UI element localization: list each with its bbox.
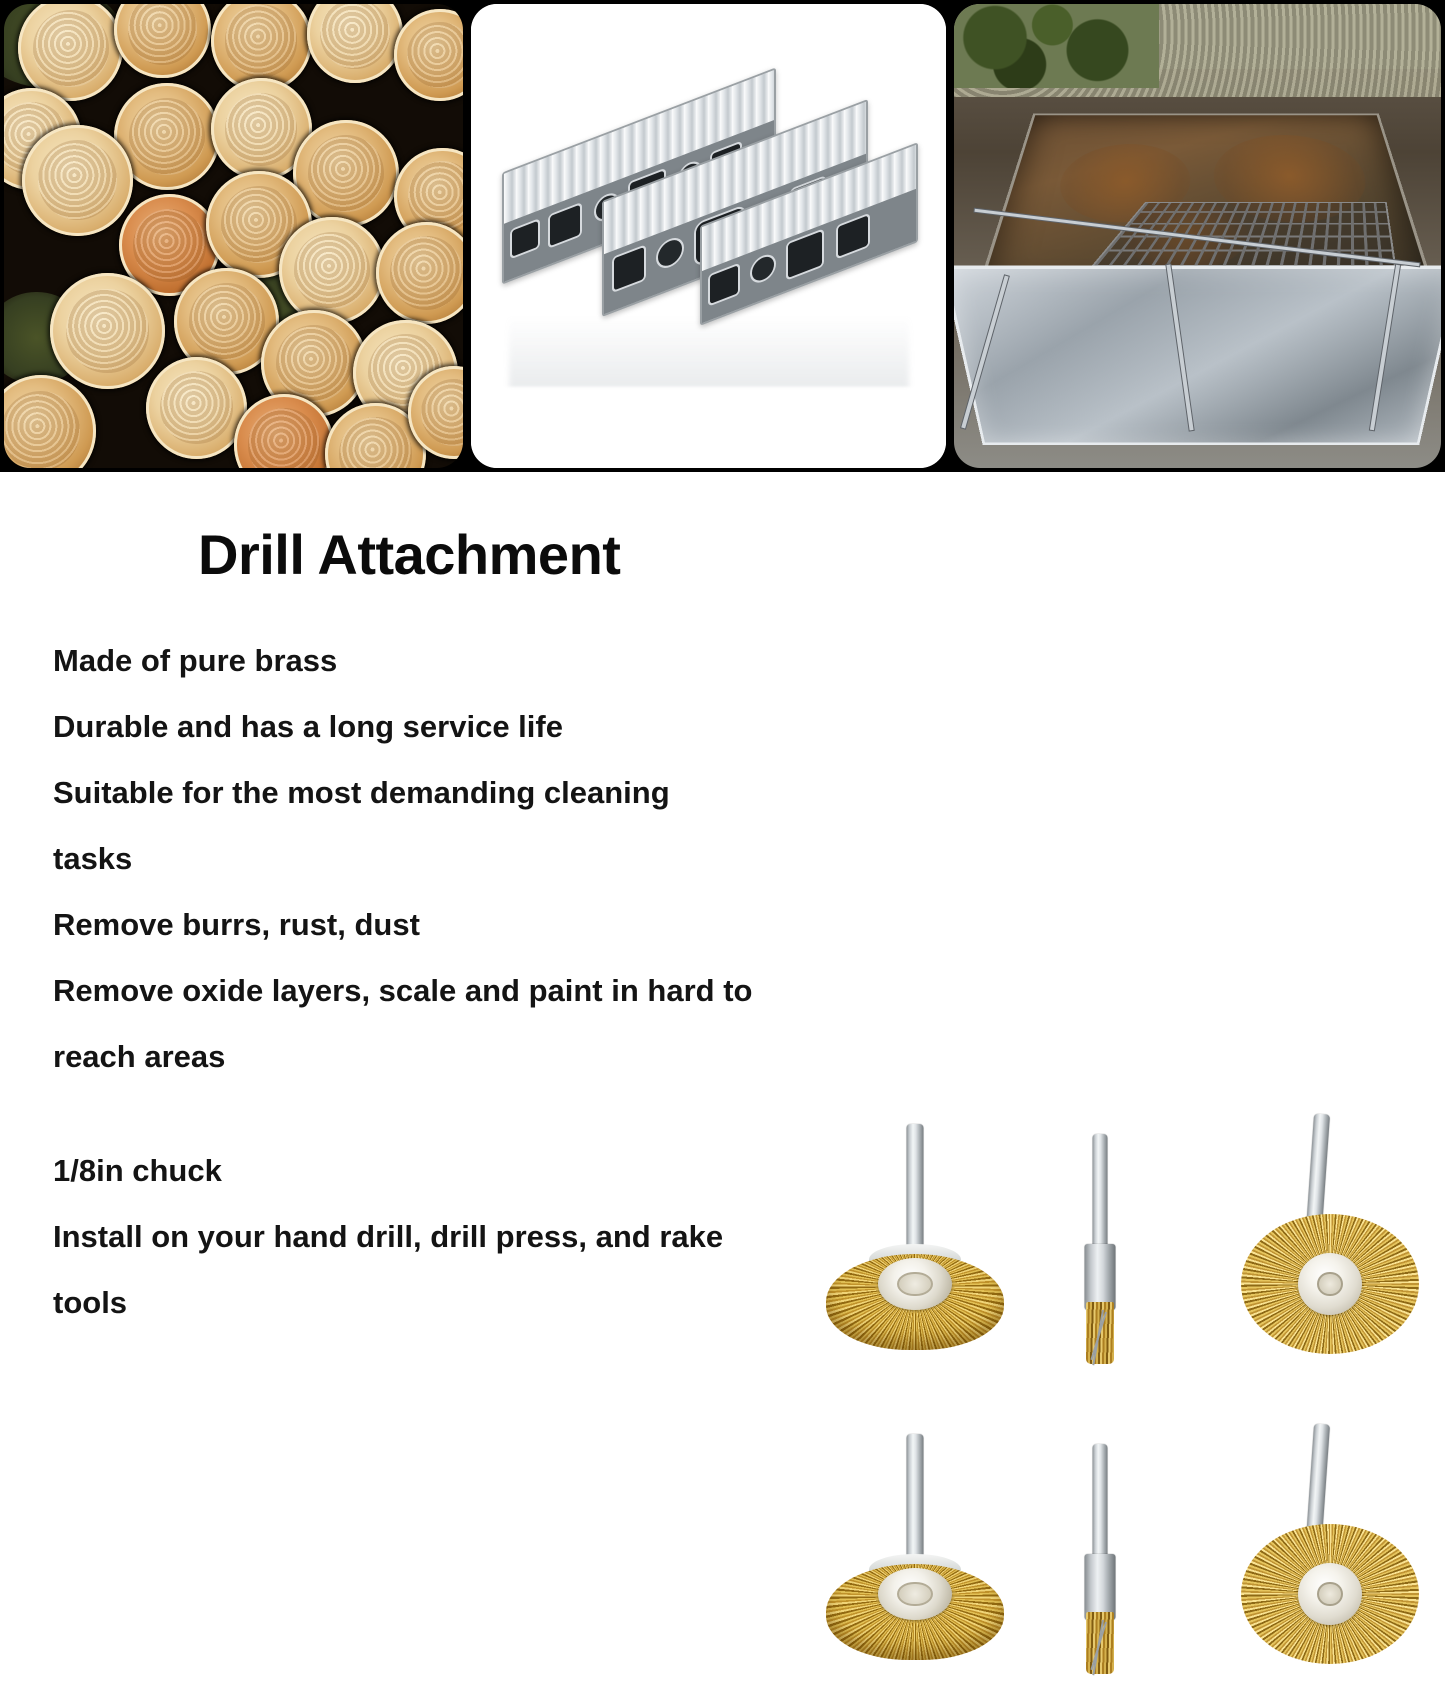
brush-hub [1298,1563,1362,1625]
spec-line: 1/8in chuck [53,1138,863,1204]
brass-cup-brush [820,1124,1010,1354]
photo-strip [0,0,1445,472]
brush-shank [1306,1114,1330,1231]
spec-spacer [53,1090,863,1138]
photo-panel-stacked-logs [0,0,467,472]
spec-line: Made of pure brass [53,628,863,694]
spec-line: Suitable for the most demanding cleaning [53,760,863,826]
brass-cup-brush [820,1434,1010,1664]
product-gallery [790,944,1445,1704]
brass-wheel-brush [1230,1114,1430,1354]
brush-hub [1298,1253,1362,1315]
rusty-grill-image [954,4,1441,468]
photo-panel-rusty-grill [950,0,1445,472]
aluminum-extrusions-image [471,4,946,468]
spec-list: Made of pure brass Durable and has a lon… [53,628,863,1336]
brush-ferrule [1085,1554,1116,1620]
brush-hub [878,1258,952,1310]
spec-line: reach areas [53,1024,863,1090]
brass-wheel-brush [1230,1424,1430,1664]
brass-end-brush [1060,1444,1140,1664]
product-infographic: Drill Attachment Made of pure brass Dura… [0,0,1445,1445]
brush-shank [1306,1424,1330,1541]
spec-line: tools [53,1270,863,1336]
stacked-logs-image [4,4,463,468]
photo-panel-aluminum-extrusions [467,0,950,472]
brush-shank [907,1124,924,1252]
brush-shank [907,1434,924,1562]
brush-shank [1093,1134,1108,1250]
spec-line: tasks [53,826,863,892]
spec-line: Install on your hand drill, drill press,… [53,1204,863,1270]
page-title: Drill Attachment [198,522,620,587]
brass-end-brush [1060,1134,1140,1354]
brush-hub [878,1568,952,1620]
spec-line: Remove oxide layers, scale and paint in … [53,958,863,1024]
brush-ferrule [1085,1244,1116,1310]
brush-shank [1093,1444,1108,1560]
content-area: Drill Attachment Made of pure brass Dura… [0,472,1445,1445]
spec-line: Durable and has a long service life [53,694,863,760]
spec-line: Remove burrs, rust, dust [53,892,863,958]
